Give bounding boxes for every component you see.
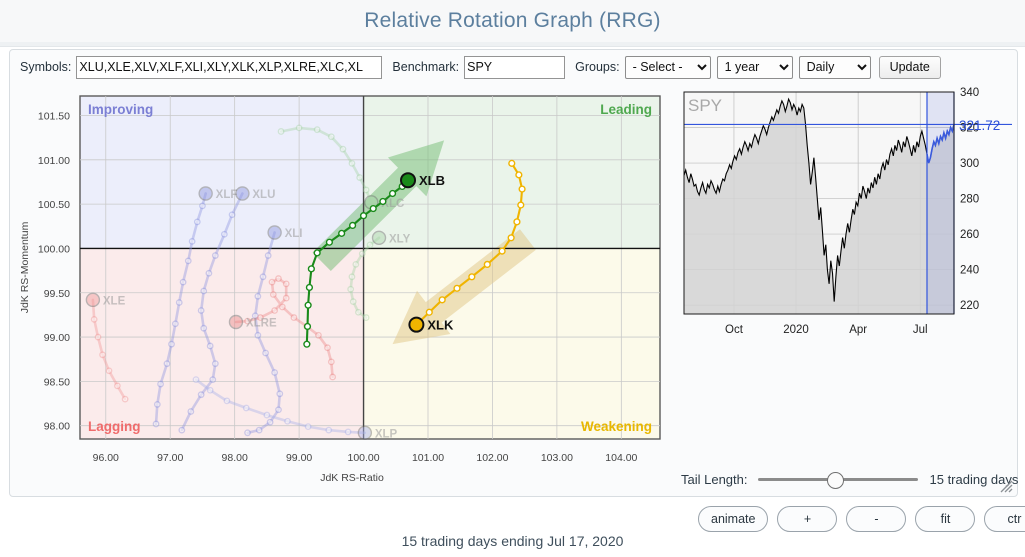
spy-svg: 220240260280300320340Oct2020AprJul SPY 3… xyxy=(676,86,1016,336)
page-title-text: Relative Rotation Graph (RRG) xyxy=(364,9,660,33)
y-tick-label: 101.50 xyxy=(38,110,70,122)
series-label-xlre: XLRE xyxy=(246,318,277,330)
period-select[interactable]: 1 year xyxy=(717,56,793,79)
quadrant-weakening xyxy=(364,248,660,439)
x-axis-title: JdK RS-Ratio xyxy=(320,472,384,484)
symbols-input[interactable] xyxy=(76,56,382,79)
y-tick-label: 98.00 xyxy=(44,421,70,433)
spy-y-tick: 300 xyxy=(960,158,979,170)
footer-caption-text: 15 trading days ending Jul 17, 2020 xyxy=(402,533,624,549)
y-tick-label: 99.50 xyxy=(44,288,70,300)
tail-length-slider[interactable] xyxy=(758,472,918,486)
frequency-select[interactable]: Daily xyxy=(799,56,871,79)
x-tick-label: 104.00 xyxy=(605,452,637,464)
quadrant-lagging xyxy=(80,248,364,439)
rrg-quadrants xyxy=(80,96,660,439)
y-tick-label: 100.50 xyxy=(38,199,70,211)
quadrant-label-improving: Improving xyxy=(88,102,153,117)
update-button[interactable]: Update xyxy=(879,56,941,79)
page-title: Relative Rotation Graph (RRG) xyxy=(0,0,1025,42)
spy-y-tick: 280 xyxy=(960,194,979,206)
rrg-chart[interactable]: XLFXLUXLIXLEXLREXLCXLYXLP XLBXLK 96.0097… xyxy=(10,84,675,494)
resize-handle-icon[interactable] xyxy=(997,477,1013,493)
benchmark-input[interactable] xyxy=(464,56,565,79)
benchmark-label: Benchmark: xyxy=(392,60,459,74)
quadrant-improving xyxy=(80,96,364,248)
spy-x-tick: Apr xyxy=(849,324,867,336)
tail-length-label: Tail Length: xyxy=(681,472,748,487)
y-tick-label: 99.00 xyxy=(44,332,70,344)
spy-symbol-label: SPY xyxy=(688,96,722,115)
quadrant-label-weakening: Weakening xyxy=(581,419,652,434)
spy-x-tick: Jul xyxy=(913,324,928,336)
x-tick-label: 97.00 xyxy=(157,452,183,464)
spy-chart[interactable]: 220240260280300320340Oct2020AprJul SPY 3… xyxy=(676,86,1016,336)
quadrant-label-leading: Leading xyxy=(600,102,652,117)
y-tick-label: 98.50 xyxy=(44,376,70,388)
groups-label: Groups: xyxy=(575,60,619,74)
title-divider xyxy=(0,42,1025,47)
y-axis-title: JdK RS-Momentum xyxy=(19,221,31,313)
series-label-xlu: XLU xyxy=(252,189,275,201)
rrg-svg: XLFXLUXLIXLEXLREXLCXLYXLP XLBXLK 96.0097… xyxy=(10,84,675,494)
series-label-xlp: XLP xyxy=(375,428,398,440)
chart-controls: Tail Length: 15 trading days animate+-fi… xyxy=(676,350,1016,490)
rrg-panel: Symbols: Benchmark: Groups: - Select - 1… xyxy=(9,49,1018,497)
x-tick-label: 103.00 xyxy=(541,452,573,464)
spy-x-tick: 2020 xyxy=(783,324,809,336)
spy-y-tick: 340 xyxy=(960,87,979,99)
quadrant-label-lagging: Lagging xyxy=(88,419,141,434)
toolbar: Symbols: Benchmark: Groups: - Select - 1… xyxy=(10,50,1017,84)
x-tick-label: 101.00 xyxy=(412,452,444,464)
slider-thumb[interactable] xyxy=(827,472,844,489)
series-label-xly: XLY xyxy=(389,233,411,245)
series-label-xlk: XLK xyxy=(427,318,454,333)
spy-x-tick: Oct xyxy=(725,324,744,336)
footer-caption: 15 trading days ending Jul 17, 2020 xyxy=(0,528,1025,554)
y-tick-label: 100.00 xyxy=(38,243,70,255)
x-tick-label: 100.00 xyxy=(347,452,379,464)
series-label-xli: XLI xyxy=(285,228,303,240)
tail-length-row: Tail Length: 15 trading days xyxy=(681,468,1021,490)
symbols-label: Symbols: xyxy=(20,60,71,74)
series-label-xlb: XLB xyxy=(419,173,445,188)
series-label-xlf: XLF xyxy=(216,189,238,201)
series-label-xle: XLE xyxy=(103,295,126,307)
spy-y-tick: 240 xyxy=(960,265,979,277)
x-tick-label: 96.00 xyxy=(93,452,119,464)
spy-last-price: 321.72 xyxy=(959,118,1000,133)
x-tick-label: 99.00 xyxy=(286,452,312,464)
groups-select[interactable]: - Select - xyxy=(625,56,711,79)
x-tick-label: 98.00 xyxy=(222,452,248,464)
y-tick-label: 101.00 xyxy=(38,155,70,167)
spy-y-tick: 260 xyxy=(960,229,979,241)
x-tick-label: 102.00 xyxy=(476,452,508,464)
spy-y-tick: 220 xyxy=(960,300,979,312)
